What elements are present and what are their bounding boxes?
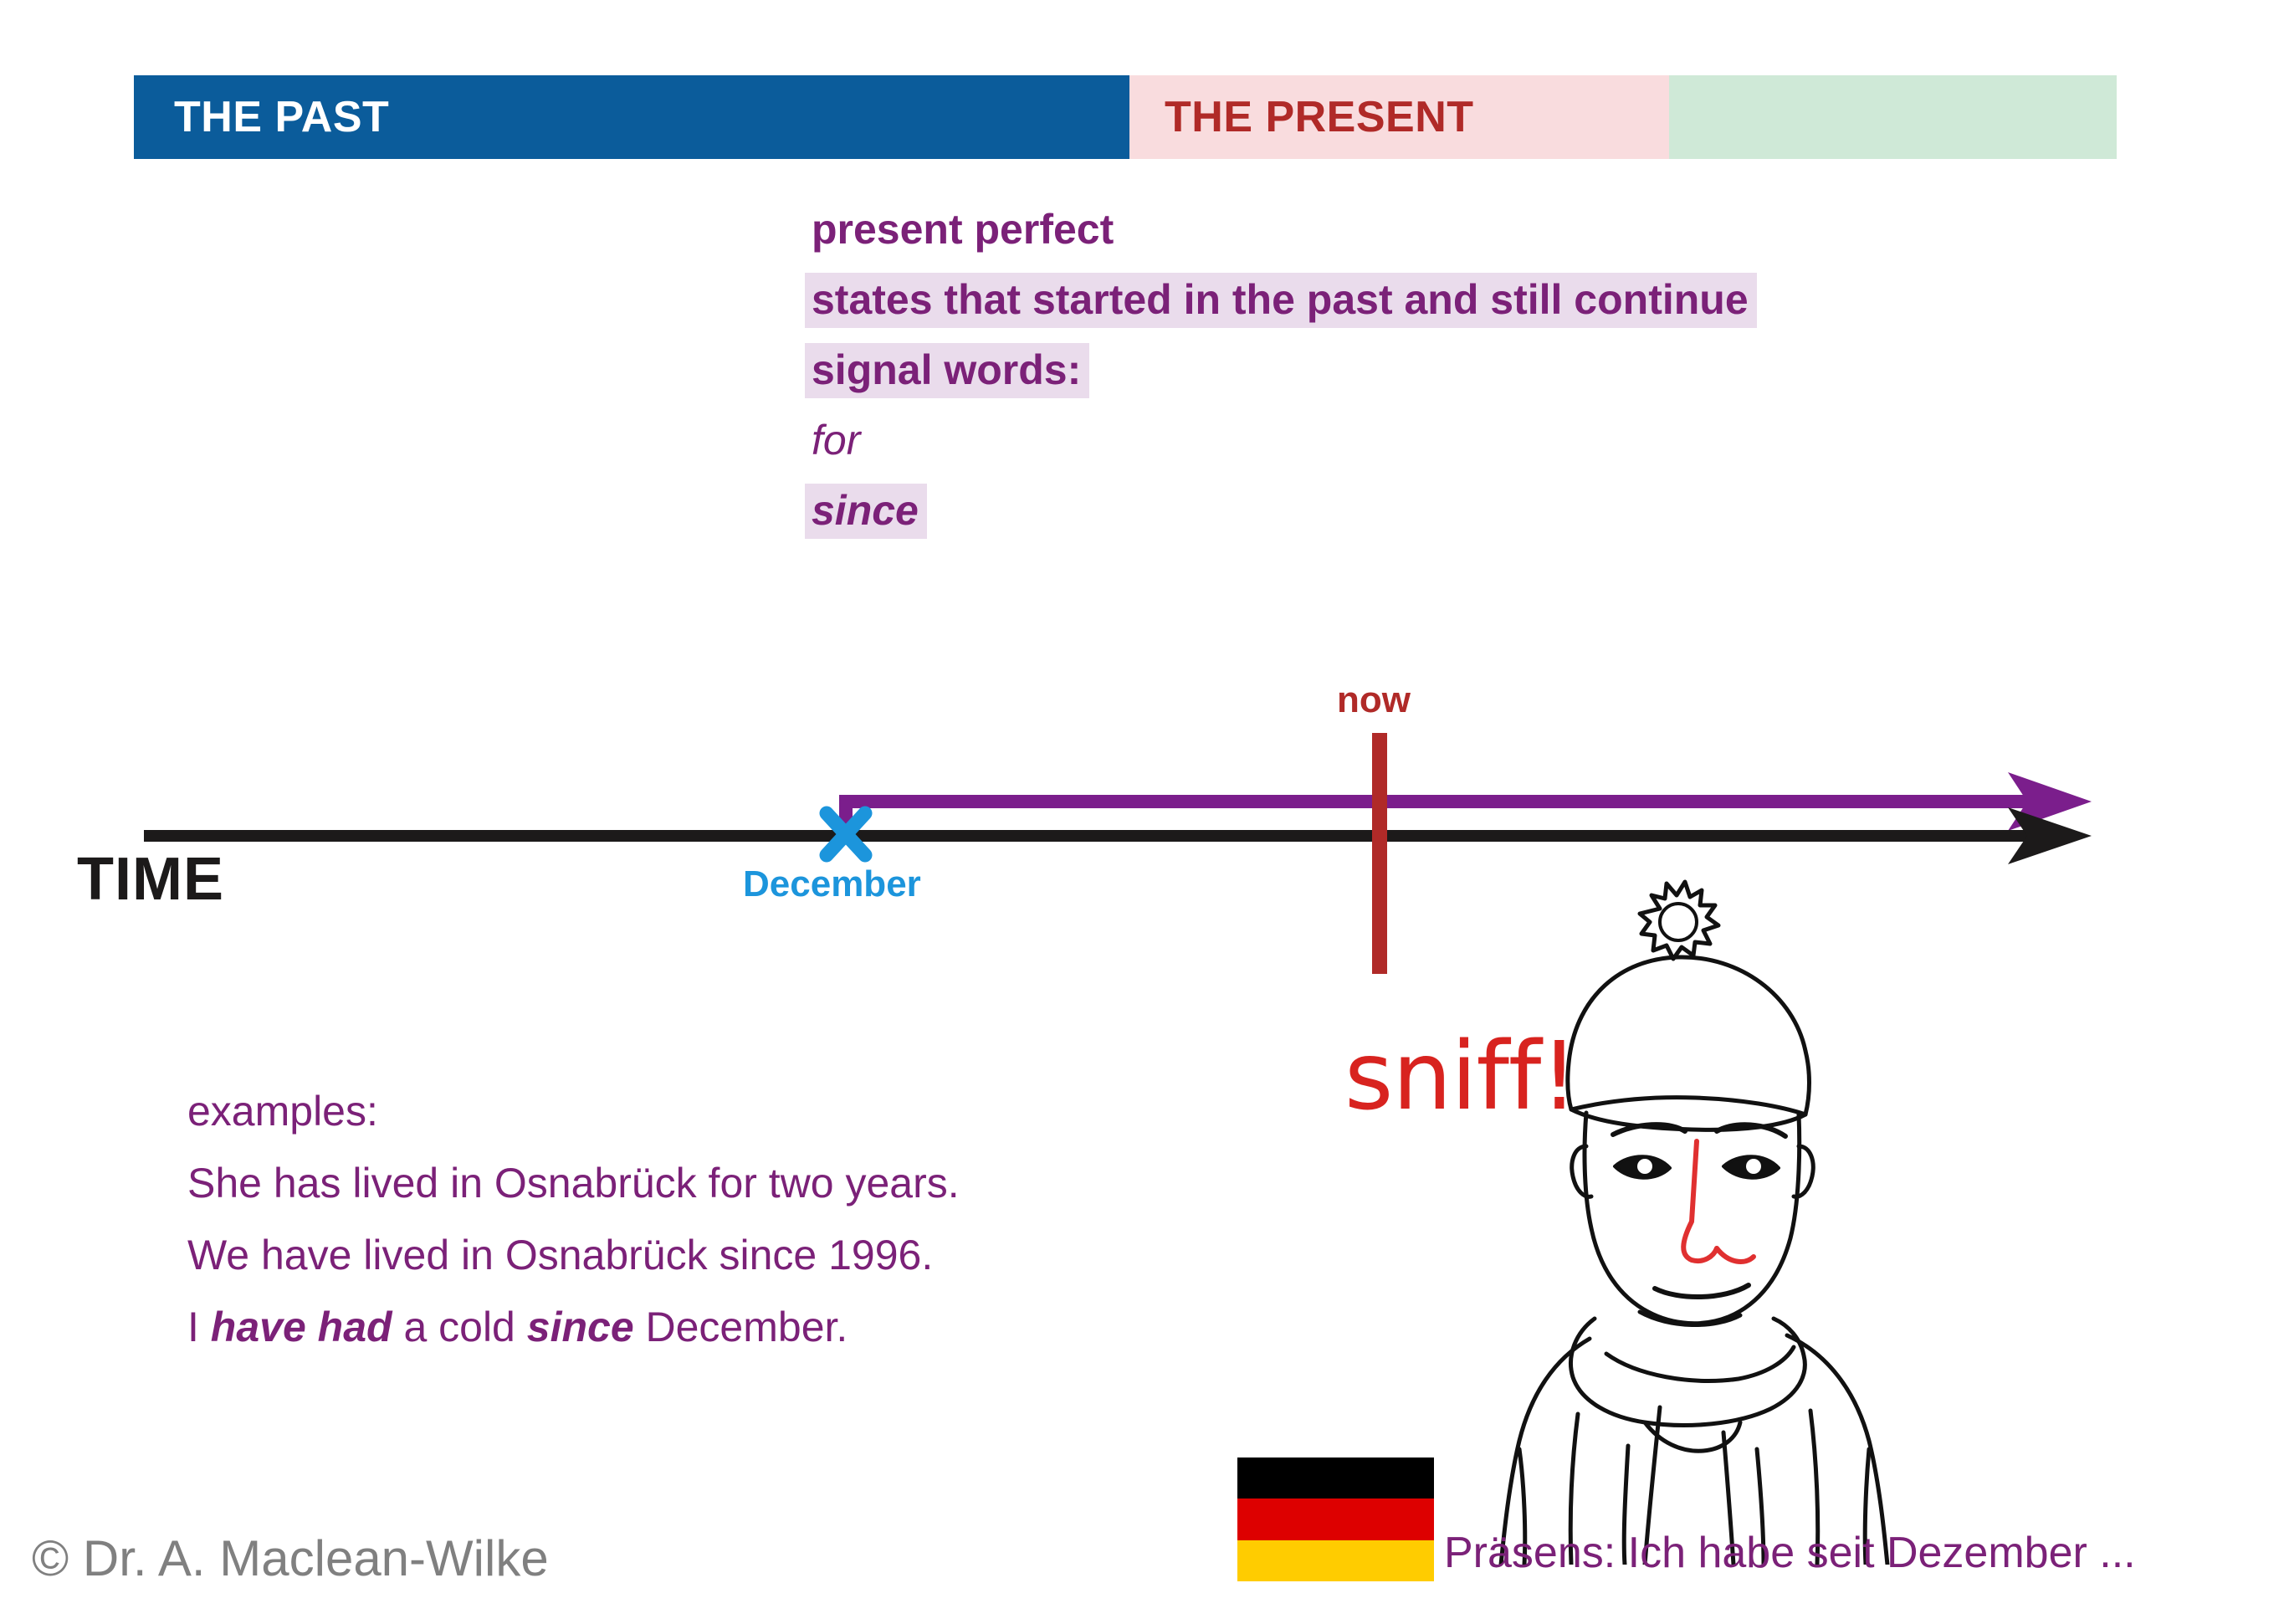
example-2-text: We have lived in Osnabrück since 1996. [187,1232,933,1278]
explanation-title-line: present perfect [805,194,2060,264]
explanation-signal-words-line: signal words: [805,335,2060,405]
header-segment-past: THE PAST [134,75,1129,159]
time-axis-line [144,807,2092,864]
explanation-block: present perfect states that started in t… [805,194,2060,546]
explanation-title: present perfect [805,202,1122,258]
present-perfect-span-line [839,772,2092,837]
german-translation-sentence: Präsens: Ich habe seit Dezember ... [1444,1528,2136,1578]
now-label: now [1337,679,1411,721]
flag-stripe-black [1237,1458,1434,1498]
copyright-notice: © Dr. A. Maclean-Wilke [32,1529,549,1587]
examples-block: examples: She has lived in Osnabrück for… [187,1075,1359,1363]
example-3-part-4: since [527,1304,634,1350]
example-sentence-2: We have lived in Osnabrück since 1996. [187,1219,1359,1291]
flag-stripe-gold [1237,1540,1434,1581]
hat-pompom-icon [1640,882,1718,959]
examples-heading: examples: [187,1075,1359,1147]
time-axis-label: TIME [77,845,224,914]
header-label-present: THE PRESENT [1129,92,1474,142]
signal-word-since: since [805,484,927,539]
explanation-definition-line: states that started in the past and stil… [805,264,2060,335]
explanation-signal-words-label: signal words: [805,343,1089,398]
now-marker-line [1372,733,1387,974]
beanie-hat-icon [1568,957,1810,1130]
person-with-cold-illustration [1472,870,1941,1565]
example-3-part-2: have had [211,1304,392,1350]
sad-mouth [1655,1285,1749,1297]
timeline-graphic [0,653,2284,1004]
signal-word-for: for [805,413,868,469]
header-segment-future [1669,75,2117,159]
example-3-part-5: December. [634,1304,848,1350]
signal-word-since-line: since [805,475,2060,546]
flag-stripe-red [1237,1498,1434,1539]
example-1-text: She has lived in Osnabrück for two years… [187,1160,960,1206]
example-sentence-1: She has lived in Osnabrück for two years… [187,1147,1359,1219]
explanation-definition: states that started in the past and stil… [805,273,1757,328]
december-label: December [743,863,921,905]
timeline-header-bar: THE PAST THE PRESENT [134,75,2117,159]
header-segment-present: THE PRESENT [1129,75,1669,159]
example-sentence-3: I have had a cold since December. [187,1291,1359,1363]
example-3-part-1: I [187,1304,211,1350]
example-3-part-3: a cold [392,1304,527,1350]
signal-word-for-line: for [805,405,2060,475]
german-flag-icon [1237,1458,1434,1581]
header-label-past: THE PAST [134,92,389,142]
